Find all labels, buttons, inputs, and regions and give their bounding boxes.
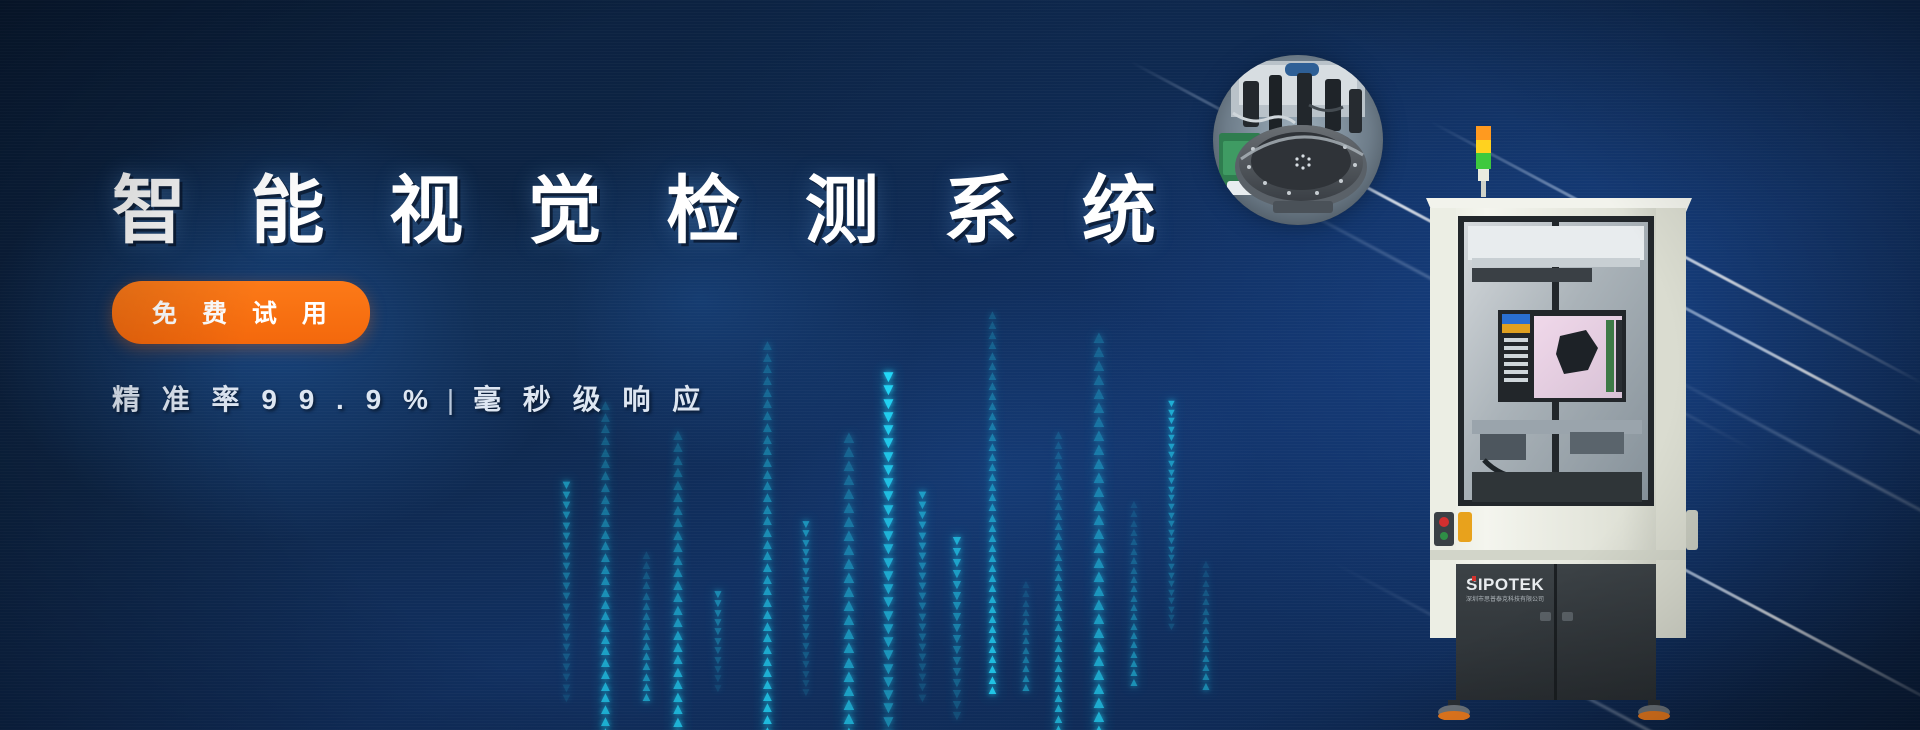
- arrow-glyph: ▲: [1200, 663, 1212, 672]
- arrow-glyph: ▼: [916, 693, 929, 703]
- arrow-glyph: ▲: [598, 716, 613, 728]
- arrow-glyph: ▼: [1166, 494, 1177, 503]
- arrow-glyph: ▲: [1052, 562, 1065, 572]
- arrow-glyph: ▲: [1052, 592, 1065, 602]
- arrow-glyph: ▲: [1200, 682, 1212, 691]
- arrow-glyph: ▲: [1090, 442, 1108, 456]
- arrow-glyph: ▲: [986, 472, 999, 482]
- arrow-glyph: ▲: [598, 505, 613, 517]
- arrow-glyph: ▲: [598, 645, 613, 657]
- arrow-glyph: ▼: [560, 652, 573, 662]
- arrow-glyph: ▼: [916, 662, 929, 672]
- arrow-glyph: ▲: [760, 656, 775, 668]
- arrow-glyph: ▲: [598, 540, 613, 552]
- arrow-glyph: ▲: [670, 605, 686, 617]
- machine-feet: [1438, 700, 1670, 720]
- arrow-glyph: ▲: [760, 562, 775, 574]
- arrow-glyph: ▲: [670, 679, 686, 691]
- arrow-glyph: ▲: [598, 564, 613, 576]
- arrow-glyph: ▲: [840, 683, 858, 697]
- arrow-glyph: ▲: [840, 444, 858, 458]
- arrow-glyph: ▲: [1200, 626, 1212, 635]
- arrow-glyph: ▲: [1020, 683, 1032, 692]
- arrow-glyph: ▼: [800, 688, 812, 697]
- arrow-glyph: ▲: [760, 457, 775, 469]
- arrow-glyph: ▲: [1090, 583, 1108, 597]
- arrow-glyph: ▲: [1128, 537, 1140, 546]
- arrow-glyph: ▲: [840, 626, 858, 640]
- arrow-glyph: ▼: [880, 436, 897, 449]
- arrow-glyph: ▼: [880, 582, 897, 595]
- arrow-glyph: ▼: [1166, 460, 1177, 469]
- arrow-glyph: ▲: [1200, 607, 1212, 616]
- arrow-glyph: ▲: [1052, 460, 1065, 470]
- arrow-glyph: ▲: [670, 617, 686, 629]
- arrow-glyph: ▼: [880, 529, 897, 542]
- arrow-glyph: ▲: [1020, 617, 1032, 626]
- arrow-glyph: ▲: [670, 592, 686, 604]
- arrow-glyph: ▲: [760, 597, 775, 609]
- arrow-glyph: ▲: [1052, 572, 1065, 582]
- arrow-glyph: ▲: [598, 529, 613, 541]
- arrow-glyph: ▲: [598, 587, 613, 599]
- arrow-glyph: ▲: [760, 609, 775, 621]
- arrow-glyph: ▼: [880, 556, 897, 569]
- arrow-column-13: ▲▲▲▲▲▲▲▲▲▲▲▲: [1020, 580, 1032, 730]
- arrow-column-4: ▲▲▲▲▲▲▲▲▲▲▲▲▲▲▲▲▲▲▲▲▲▲▲▲▲▲▲▲▲▲▲▲▲: [670, 430, 686, 730]
- arrow-glyph: ▲: [1200, 560, 1212, 569]
- arrow-glyph: ▼: [880, 701, 897, 714]
- machine-brand-sub-text: 深圳市思普泰克科技有限公司: [1466, 595, 1544, 603]
- arrow-glyph: ▼: [560, 642, 573, 652]
- arrow-glyph: ▲: [1090, 526, 1108, 540]
- arrow-glyph: ▲: [760, 621, 775, 633]
- arrow-glyph: ▲: [986, 523, 999, 533]
- arrow-glyph: ▼: [950, 611, 964, 622]
- arrow-glyph: ▲: [986, 432, 999, 442]
- arrow-glyph: ▲: [1020, 627, 1032, 636]
- arrow-glyph: ▼: [916, 601, 929, 611]
- arrow-glyph: ▼: [712, 618, 724, 627]
- arrow-glyph: ▼: [800, 595, 812, 604]
- arrow-glyph: ▼: [712, 656, 724, 665]
- arrow-glyph: ▲: [1020, 674, 1032, 683]
- arrow-glyph: ▼: [1166, 426, 1177, 435]
- arrow-glyph: ▼: [880, 569, 897, 582]
- arrow-glyph: ▲: [670, 704, 686, 716]
- arrow-glyph: ▲: [640, 692, 653, 702]
- arrow-glyph: ▲: [670, 555, 686, 567]
- arrow-column-11: ▼▼▼▼▼▼▼▼▼▼▼▼▼▼▼▼▼: [950, 535, 964, 730]
- arrow-glyph: ▲: [986, 533, 999, 543]
- arrow-glyph: ▲: [1090, 540, 1108, 554]
- arrow-glyph: ▲: [986, 452, 999, 462]
- arrow-glyph: ▲: [760, 585, 775, 597]
- arrow-glyph: ▲: [1128, 594, 1140, 603]
- arrow-glyph: ▲: [1090, 484, 1108, 498]
- arrow-glyph: ▲: [1090, 639, 1108, 653]
- arrow-glyph: ▲: [1200, 588, 1212, 597]
- arrow-glyph: ▲: [1128, 612, 1140, 621]
- arrow-glyph: ▲: [640, 672, 653, 682]
- arrow-glyph: ▼: [1166, 614, 1177, 623]
- arrow-glyph: ▲: [760, 702, 775, 714]
- arrow-glyph: ▼: [800, 557, 812, 566]
- arrow-column-3: ▲▲▲▲▲▲▲▲▲▲▲▲▲▲▲: [640, 550, 653, 730]
- arrow-glyph: ▲: [760, 667, 775, 679]
- arrow-glyph: ▲: [1052, 481, 1065, 491]
- arrow-glyph: ▲: [1090, 330, 1108, 344]
- arrow-glyph: ▼: [712, 684, 724, 693]
- arrow-glyph: ▼: [880, 595, 897, 608]
- arrow-column-8: ▲▲▲▲▲▲▲▲▲▲▲▲▲▲▲▲▲▲▲▲▲▲▲▲▲▲▲▲▲▲▲▲▲▲▲▲▲: [840, 430, 858, 730]
- arrow-glyph: ▼: [1166, 503, 1177, 512]
- arrow-glyph: ▲: [840, 472, 858, 486]
- arrow-glyph: ▲: [1052, 683, 1065, 693]
- arrow-glyph: ▼: [560, 480, 573, 490]
- arrow-glyph: ▲: [840, 542, 858, 556]
- arrow-glyph: ▲: [1200, 654, 1212, 663]
- arrow-glyph: ▲: [640, 591, 653, 601]
- arrow-glyph: ▲: [840, 711, 858, 725]
- arrow-glyph: ▼: [916, 642, 929, 652]
- arrow-glyph: ▼: [880, 463, 897, 476]
- arrow-glyph: ▲: [840, 669, 858, 683]
- arrow-glyph: ▲: [598, 470, 613, 482]
- arrow-glyph: ▲: [640, 661, 653, 671]
- arrow-glyph: ▼: [712, 665, 724, 674]
- arrow-glyph: ▲: [1090, 653, 1108, 667]
- arrow-glyph: ▲: [1090, 498, 1108, 512]
- arrow-glyph: ▲: [986, 442, 999, 452]
- arrow-glyph: ▲: [1020, 608, 1032, 617]
- arrow-glyph: ▼: [880, 648, 897, 661]
- arrow-glyph: ▼: [950, 655, 964, 666]
- arrow-glyph: ▼: [916, 561, 929, 571]
- arrow-glyph: ▼: [560, 632, 573, 642]
- arrow-glyph: ▲: [1090, 723, 1108, 730]
- arrow-glyph: ▲: [598, 704, 613, 716]
- arrow-glyph: ▲: [598, 692, 613, 704]
- arrow-glyph: ▲: [1090, 344, 1108, 358]
- rotary-machine-illustration: [1213, 55, 1383, 225]
- arrow-glyph: ▼: [560, 571, 573, 581]
- arrow-glyph: ▼: [950, 699, 964, 710]
- arrow-glyph: ▼: [950, 579, 964, 590]
- arrow-glyph: ▲: [1200, 644, 1212, 653]
- arrow-glyph: ▲: [1052, 673, 1065, 683]
- arrow-glyph: ▲: [1128, 528, 1140, 537]
- arrow-glyph: ▼: [950, 666, 964, 677]
- arrow-glyph: ▼: [916, 551, 929, 561]
- arrow-glyph: ▲: [670, 580, 686, 592]
- arrow-glyph: ▼: [1166, 469, 1177, 478]
- arrow-glyph: ▲: [1090, 569, 1108, 583]
- arrow-glyph: ▼: [1166, 400, 1177, 409]
- arrow-glyph: ▼: [916, 682, 929, 692]
- arrow-glyph: ▲: [598, 458, 613, 470]
- arrow-glyph: ▼: [1166, 554, 1177, 563]
- arrow-glyph: ▲: [1090, 611, 1108, 625]
- arrow-glyph: ▲: [986, 502, 999, 512]
- arrow-glyph: ▲: [840, 528, 858, 542]
- arrow-glyph: ▼: [1166, 537, 1177, 546]
- arrow-glyph: ▼: [800, 632, 812, 641]
- arrow-glyph: ▲: [1052, 521, 1065, 531]
- arrow-glyph: ▼: [880, 635, 897, 648]
- arrow-glyph: ▼: [560, 541, 573, 551]
- arrow-glyph: ▲: [840, 486, 858, 500]
- arrow-glyph: ▲: [1090, 695, 1108, 709]
- arrow-glyph: ▼: [950, 557, 964, 568]
- arrow-glyph: ▼: [880, 450, 897, 463]
- arrow-glyph: ▲: [1052, 450, 1065, 460]
- arrow-column-17: ▼▼▼▼▼▼▼▼▼▼▼▼▼▼▼▼▼▼▼▼▼▼▼▼▼▼▼: [1166, 400, 1177, 730]
- arrow-glyph: ▲: [1052, 703, 1065, 713]
- arrow-glyph: ▼: [1166, 572, 1177, 581]
- arrow-glyph: ▼: [800, 567, 812, 576]
- arrow-glyph: ▲: [760, 574, 775, 586]
- arrow-glyph: ▼: [800, 529, 812, 538]
- arrow-glyph: ▼: [560, 693, 573, 703]
- arrow-glyph: ▲: [1052, 471, 1065, 481]
- arrow-glyph: ▼: [1166, 477, 1177, 486]
- control-panel: [1434, 512, 1472, 546]
- arrow-glyph: ▲: [598, 482, 613, 494]
- arrow-glyph: ▲: [840, 725, 858, 730]
- arrow-glyph: ▲: [760, 691, 775, 703]
- arrow-glyph: ▲: [670, 717, 686, 729]
- arrow-glyph: ▲: [598, 552, 613, 564]
- arrow-glyph: ▲: [1128, 519, 1140, 528]
- arrow-glyph: ▲: [598, 610, 613, 622]
- arrow-glyph: ▼: [712, 599, 724, 608]
- arrow-glyph: ▲: [1128, 584, 1140, 593]
- arrow-glyph: ▲: [640, 570, 653, 580]
- arrow-glyph: ▲: [640, 631, 653, 641]
- arrow-glyph: ▼: [880, 489, 897, 502]
- arrow-glyph: ▲: [1200, 616, 1212, 625]
- arrow-glyph: ▲: [986, 543, 999, 553]
- inset-photo-rotary-machine: [1213, 55, 1383, 225]
- arrow-glyph: ▲: [1090, 625, 1108, 639]
- arrow-glyph: ▲: [1200, 569, 1212, 578]
- arrow-glyph: ▼: [880, 503, 897, 516]
- arrow-glyph: ▲: [1090, 597, 1108, 611]
- arrow-glyph: ▲: [986, 553, 999, 563]
- arrow-glyph: ▼: [1166, 443, 1177, 452]
- arrow-glyph: ▲: [1052, 612, 1065, 622]
- arrow-glyph: ▲: [1052, 622, 1065, 632]
- arrow-glyph: ▲: [670, 467, 686, 479]
- arrow-glyph: ▼: [800, 520, 812, 529]
- free-trial-button[interactable]: 免 费 试 用: [112, 281, 370, 344]
- arrow-glyph: ▲: [986, 594, 999, 604]
- arrow-glyph: ▼: [916, 510, 929, 520]
- arrow-glyph: ▲: [670, 442, 686, 454]
- arrow-glyph: ▼: [560, 683, 573, 693]
- arrow-glyph: ▲: [760, 644, 775, 656]
- arrow-glyph: ▼: [916, 531, 929, 541]
- arrow-glyph: ▼: [560, 622, 573, 632]
- arrow-glyph: ▲: [760, 679, 775, 691]
- arrow-glyph: ▲: [1128, 678, 1140, 687]
- hero-banner: ▼▼▼▼▼▼▼▼▼▼▼▼▼▼▼▼▼▼▼▼▼▼▲▲▲▲▲▲▲▲▲▲▲▲▲▲▲▲▲▲…: [0, 0, 1920, 730]
- accuracy-stat: 精 准 率 9 9 . 9 %: [112, 384, 435, 415]
- arrow-column-2: ▲▲▲▲▲▲▲▲▲▲▲▲▲▲▲▲▲▲▲▲▲▲▲▲▲▲▲▲▲▲▲▲▲: [598, 400, 613, 730]
- arrow-glyph: ▼: [916, 622, 929, 632]
- arrow-glyph: ▼: [1166, 451, 1177, 460]
- arrow-glyph: ▼: [1166, 417, 1177, 426]
- arrow-glyph: ▼: [800, 651, 812, 660]
- arrow-glyph: ▼: [880, 542, 897, 555]
- arrow-glyph: ▲: [986, 654, 999, 664]
- arrow-glyph: ▲: [1128, 556, 1140, 565]
- arrow-glyph: ▼: [880, 476, 897, 489]
- arrow-glyph: ▲: [1090, 372, 1108, 386]
- arrow-column-14: ▲▲▲▲▲▲▲▲▲▲▲▲▲▲▲▲▲▲▲▲▲▲▲▲▲▲▲▲▲▲: [1052, 430, 1065, 730]
- arrow-glyph: ▼: [560, 591, 573, 601]
- arrow-glyph: ▼: [950, 535, 964, 546]
- arrow-glyph: ▲: [760, 480, 775, 492]
- arrow-glyph: ▲: [840, 697, 858, 711]
- arrow-glyph: ▲: [670, 692, 686, 704]
- arrow-glyph: ▲: [1090, 456, 1108, 470]
- arrow-glyph: ▲: [1200, 672, 1212, 681]
- arrow-glyph: ▲: [760, 445, 775, 457]
- arrow-glyph: ▼: [800, 623, 812, 632]
- arrow-glyph: ▲: [640, 550, 653, 560]
- arrow-glyph: ▲: [1020, 655, 1032, 664]
- arrow-glyph: ▲: [1128, 509, 1140, 518]
- arrow-glyph: ▲: [760, 504, 775, 516]
- arrow-glyph: ▼: [1166, 589, 1177, 598]
- arrow-glyph: ▲: [598, 669, 613, 681]
- arrow-glyph: ▲: [1052, 440, 1065, 450]
- arrow-glyph: ▲: [670, 654, 686, 666]
- arrow-glyph: ▼: [1166, 563, 1177, 572]
- arrow-glyph: ▲: [1052, 643, 1065, 653]
- arrow-glyph: ▲: [670, 505, 686, 517]
- arrow-glyph: ▼: [800, 548, 812, 557]
- arrow-glyph: ▲: [760, 632, 775, 644]
- arrow-glyph: ▲: [986, 644, 999, 654]
- arrow-glyph: ▼: [560, 500, 573, 510]
- arrow-glyph: ▲: [760, 469, 775, 481]
- arrow-glyph: ▲: [1052, 724, 1065, 730]
- arrow-glyph: ▲: [986, 492, 999, 502]
- arrow-glyph: ▼: [560, 551, 573, 561]
- arrow-glyph: ▲: [760, 527, 775, 539]
- arrow-glyph: ▲: [670, 530, 686, 542]
- arrow-column-9: ▼▼▼▼▼▼▼▼▼▼▼▼▼▼▼▼▼▼▼▼▼▼▼▼▼▼▼▼▼▼▼▼▼▼▼▼▼▼▼▼: [880, 370, 897, 730]
- arrow-glyph: ▲: [840, 584, 858, 598]
- arrow-glyph: ▲: [986, 421, 999, 431]
- arrow-glyph: ▲: [760, 714, 775, 726]
- arrow-glyph: ▼: [800, 539, 812, 548]
- arrow-glyph: ▲: [1052, 501, 1065, 511]
- arrow-glyph: ▲: [670, 667, 686, 679]
- arrow-glyph: ▼: [916, 632, 929, 642]
- arrow-glyph: ▼: [880, 516, 897, 529]
- arrow-glyph: ▼: [1166, 623, 1177, 632]
- arrow-glyph: ▲: [986, 563, 999, 573]
- arrow-glyph: ▲: [1052, 552, 1065, 562]
- arrow-glyph: ▲: [840, 640, 858, 654]
- arrow-glyph: ▲: [986, 583, 999, 593]
- arrow-glyph: ▼: [1166, 409, 1177, 418]
- arrow-glyph: ▲: [1052, 582, 1065, 592]
- arrow-glyph: ▼: [916, 490, 929, 500]
- page-title: 智 能 视 觉 检 测 系 统: [112, 170, 1012, 253]
- arrow-glyph: ▲: [986, 675, 999, 685]
- arrow-glyph: ▲: [1128, 668, 1140, 677]
- arrow-glyph: ▲: [1020, 599, 1032, 608]
- arrow-glyph: ▼: [560, 581, 573, 591]
- arrow-glyph: ▲: [986, 513, 999, 523]
- machine-brand-text: SIPOTEK: [1466, 575, 1544, 594]
- arrow-glyph: ▼: [950, 677, 964, 688]
- arrow-column-18: ▲▲▲▲▲▲▲▲▲▲▲▲▲▲: [1200, 560, 1212, 730]
- arrow-glyph: ▲: [1090, 428, 1108, 442]
- arrow-column-5: ▼▼▼▼▼▼▼▼▼▼▼: [712, 590, 724, 730]
- arrow-glyph: ▲: [598, 622, 613, 634]
- arrow-glyph: ▲: [1128, 575, 1140, 584]
- arrow-glyph: ▲: [640, 682, 653, 692]
- arrow-glyph: ▲: [1090, 414, 1108, 428]
- arrow-glyph: ▲: [1020, 589, 1032, 598]
- arrow-glyph: ▲: [760, 492, 775, 504]
- arrow-glyph: ▲: [1128, 547, 1140, 556]
- arrow-glyph: ▲: [986, 634, 999, 644]
- arrow-glyph: ▲: [760, 726, 775, 730]
- arrow-glyph: ▲: [670, 567, 686, 579]
- arrow-glyph: ▼: [916, 591, 929, 601]
- arrow-glyph: ▲: [1128, 500, 1140, 509]
- arrow-glyph: ▼: [916, 520, 929, 530]
- arrow-glyph: ▼: [950, 710, 964, 721]
- arrow-glyph: ▲: [986, 664, 999, 674]
- arrow-glyph: ▲: [840, 598, 858, 612]
- arrow-glyph: ▼: [950, 546, 964, 557]
- arrow-glyph: ▼: [560, 602, 573, 612]
- arrow-glyph: ▼: [916, 612, 929, 622]
- arrow-glyph: ▲: [760, 422, 775, 434]
- arrow-glyph: ▼: [800, 642, 812, 651]
- arrow-glyph: ▼: [560, 510, 573, 520]
- arrow-glyph: ▲: [1052, 663, 1065, 673]
- hero-text-block: 智 能 视 觉 检 测 系 统 免 费 试 用 精 准 率 9 9 . 9 %|…: [112, 170, 1012, 418]
- arrow-glyph: ▼: [1166, 546, 1177, 555]
- arrow-glyph: ▲: [1052, 511, 1065, 521]
- arrow-glyph: ▲: [598, 681, 613, 693]
- arrow-glyph: ▲: [1020, 646, 1032, 655]
- arrow-glyph: ▲: [1052, 541, 1065, 551]
- arrow-glyph: ▼: [560, 612, 573, 622]
- arrow-glyph: ▲: [598, 517, 613, 529]
- arrow-glyph: ▼: [916, 581, 929, 591]
- arrow-glyph: ▲: [840, 570, 858, 584]
- arrow-glyph: ▲: [598, 494, 613, 506]
- arrow-glyph: ▲: [1128, 640, 1140, 649]
- arrow-column-1: ▼▼▼▼▼▼▼▼▼▼▼▼▼▼▼▼▼▼▼▼▼▼: [560, 480, 573, 730]
- arrow-glyph: ▲: [1090, 358, 1108, 372]
- arrow-glyph: ▲: [1020, 636, 1032, 645]
- arrow-glyph: ▲: [1052, 491, 1065, 501]
- arrow-glyph: ▼: [1166, 580, 1177, 589]
- arrow-glyph: ▲: [640, 560, 653, 570]
- arrow-glyph: ▲: [640, 580, 653, 590]
